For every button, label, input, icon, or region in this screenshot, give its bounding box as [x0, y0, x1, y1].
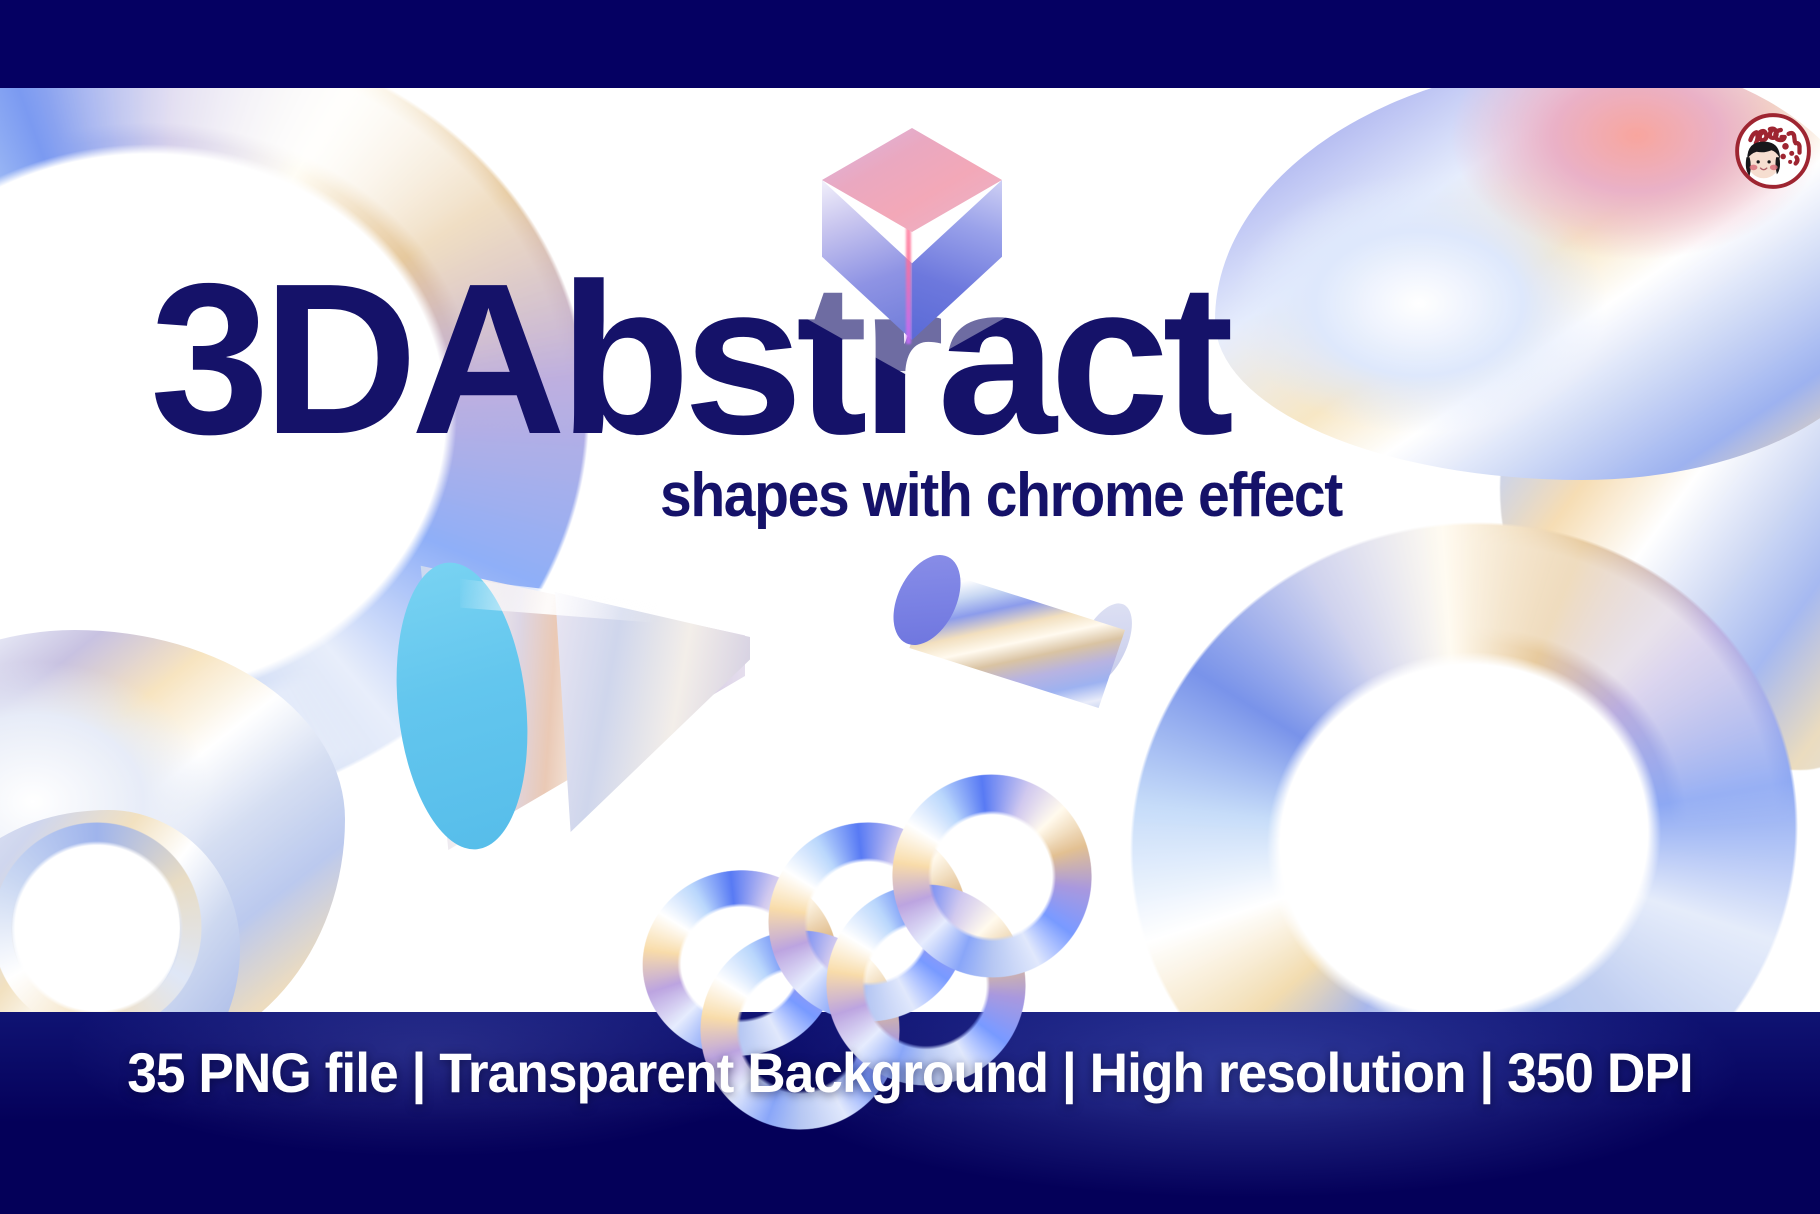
top-navy-band — [0, 0, 1820, 88]
page-subtitle: shapes with chrome effect — [660, 460, 1342, 531]
glass-cube — [780, 104, 1050, 404]
chrome-blob-bottom-left-rim — [0, 822, 202, 1034]
footer-specs-text: 35 PNG file | Transparent Background | H… — [46, 1012, 1775, 1132]
brand-logo-badge[interactable] — [1734, 112, 1812, 190]
liquid-blob-top-right — [1215, 60, 1820, 480]
page-title: 3DAbstract — [150, 258, 1227, 460]
title-part-3d: 3D — [150, 238, 411, 479]
jaogan-logo-icon — [1734, 112, 1812, 190]
poster-canvas: 3DAbstract shapes with chrome effect 35 … — [0, 0, 1820, 1214]
